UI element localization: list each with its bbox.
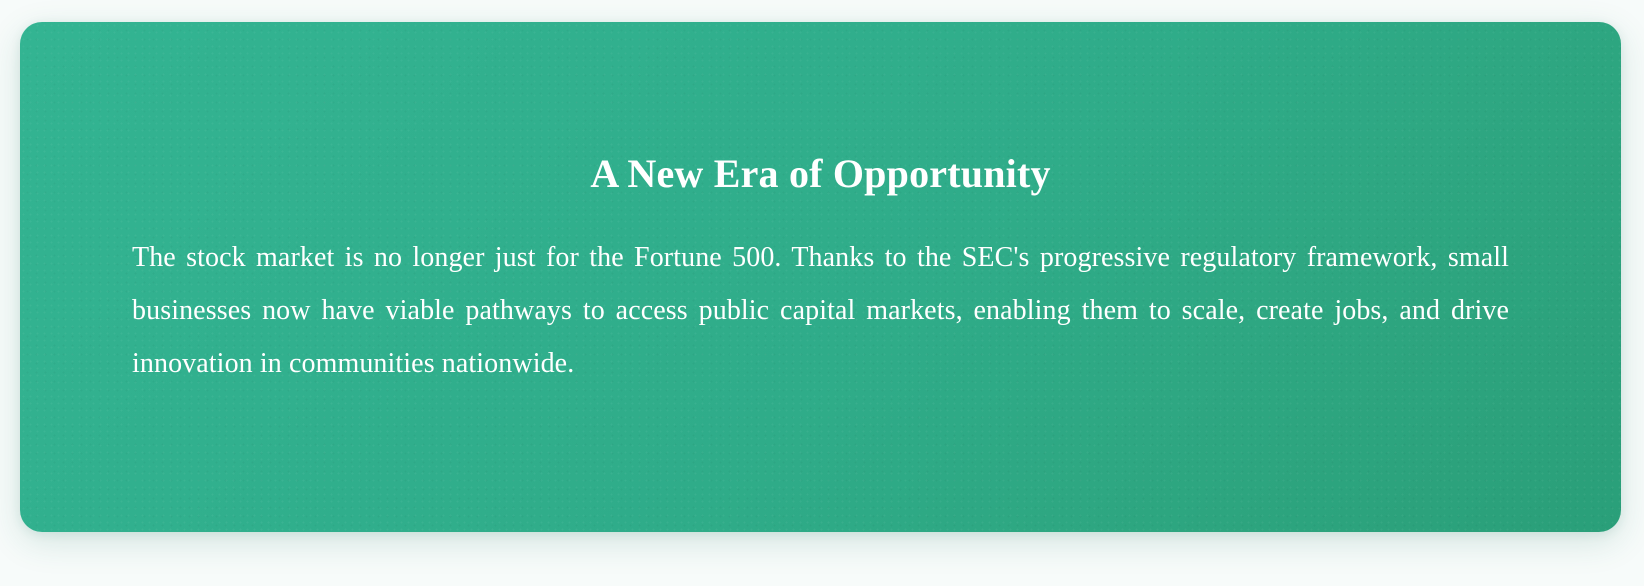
callout-card: A New Era of Opportunity The stock marke… (20, 22, 1621, 532)
callout-title: A New Era of Opportunity (132, 151, 1509, 197)
callout-body-text: The stock market is no longer just for t… (132, 197, 1509, 390)
callout-content: A New Era of Opportunity The stock marke… (132, 22, 1509, 390)
page-root: A New Era of Opportunity The stock marke… (0, 0, 1644, 586)
